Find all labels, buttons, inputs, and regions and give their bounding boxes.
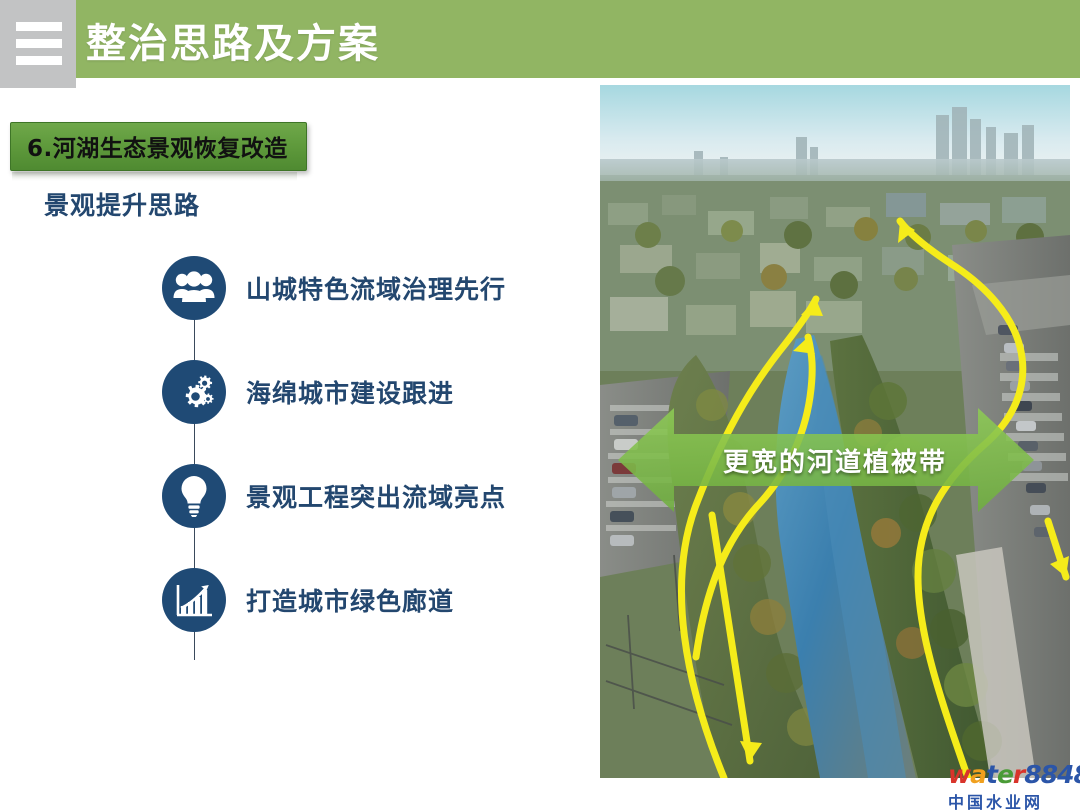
timeline-list: 山城特色流域治理先行	[0, 0, 600, 810]
list-item-label: 山城特色流域治理先行	[246, 270, 506, 306]
watermark-letter: t	[986, 760, 997, 789]
watermark-letter: 8	[1073, 760, 1080, 789]
growth-chart-icon	[162, 568, 226, 632]
watermark-letter: a	[970, 760, 986, 789]
watermark-logo: water8848.com	[948, 762, 1076, 792]
watermark-letter: 8	[1024, 760, 1040, 789]
watermark-sub: 中国水业网	[948, 793, 1076, 810]
watermark-letter: r	[1013, 760, 1024, 789]
watermark-letter: 4	[1057, 760, 1073, 789]
callout-banner: 更宽的河道植被带	[618, 408, 1052, 512]
watermark-letter: 8	[1041, 760, 1057, 789]
list-item-label: 景观工程突出流域亮点	[246, 478, 506, 514]
watermark-letter: w	[948, 760, 970, 789]
slide-root: 整治思路及方案 6.河湖生态景观恢复改造 景观提升思路 山城特色流域治理先行	[0, 0, 1080, 810]
callout-label: 更宽的河道植被带	[618, 408, 1052, 512]
aerial-river-photo: 更宽的河道植被带	[600, 85, 1070, 778]
people-group-icon	[162, 256, 226, 320]
list-item-label: 海绵城市建设跟进	[246, 374, 454, 410]
list-item-label: 打造城市绿色廊道	[246, 582, 454, 618]
gears-icon	[162, 360, 226, 424]
lightbulb-icon	[162, 464, 226, 528]
watermark-letter: e	[997, 760, 1013, 789]
site-watermark: water8848.com 中国水业网	[948, 762, 1076, 808]
